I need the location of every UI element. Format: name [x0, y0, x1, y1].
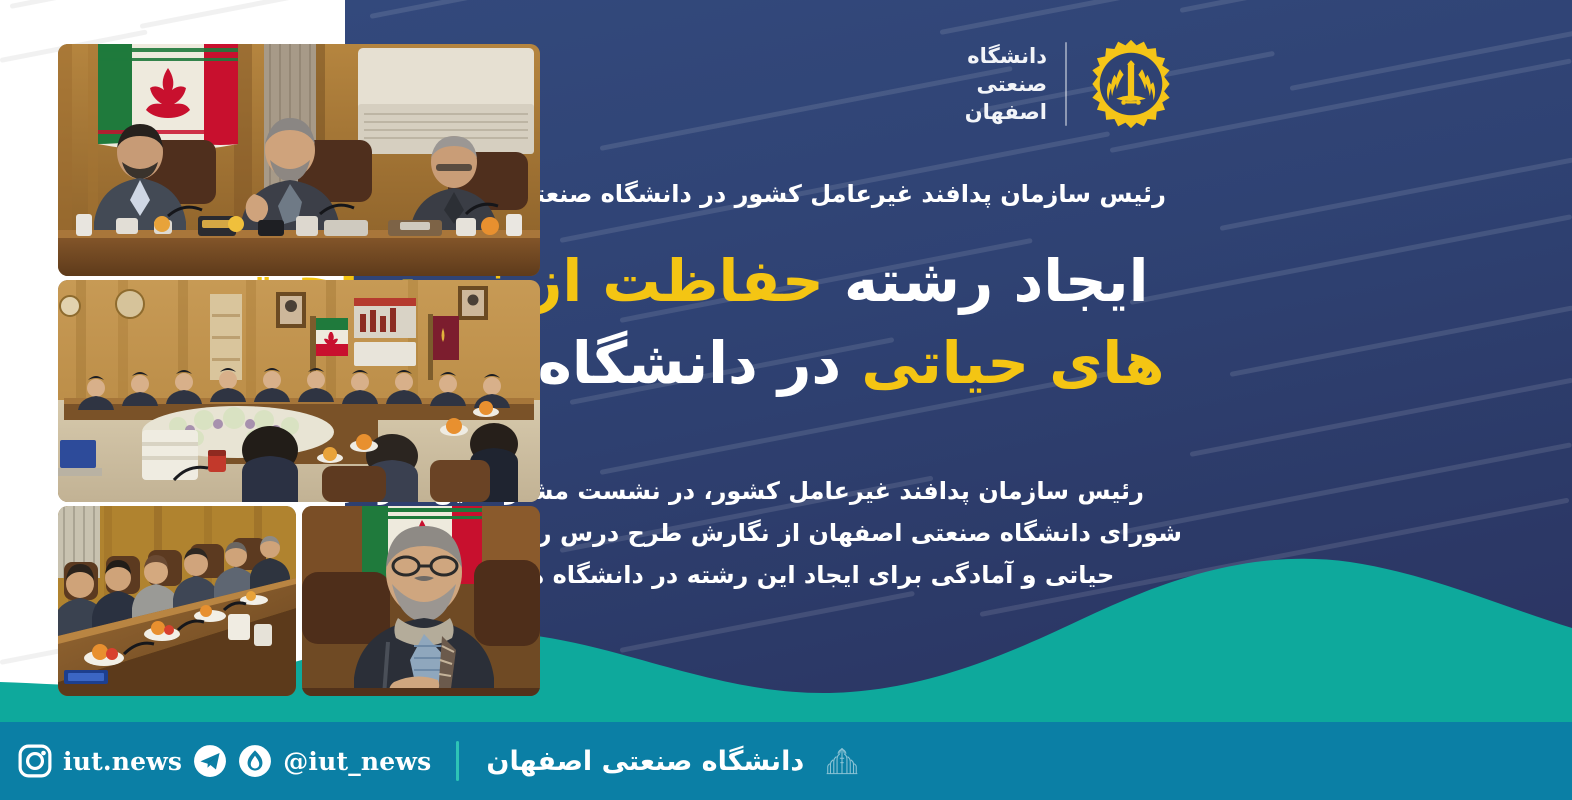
- photo-panel-speakers: [58, 44, 540, 276]
- bale-icon[interactable]: [238, 744, 272, 778]
- brand-line-1: دانشگاه: [965, 42, 1047, 70]
- brand-name: دانشگاه صنعتی اصفهان: [965, 42, 1047, 126]
- brand-lockup: دانشگاه صنعتی اصفهان: [965, 38, 1177, 130]
- footer-bar: iut.news @iut_news دانشگاه صنعتی اصفهان: [0, 722, 1572, 800]
- telegram-icon[interactable]: [193, 744, 227, 778]
- headline-part-2: [1029, 329, 1049, 397]
- iut-gear-logo-icon: [1085, 38, 1177, 130]
- footer-university-name: دانشگاه صنعتی اصفهان: [486, 746, 804, 777]
- headline-part-1: ایجاد رشته: [824, 247, 1149, 315]
- instagram-icon[interactable]: [18, 744, 52, 778]
- photo-official-portrait: [302, 506, 540, 696]
- photo-council-meeting: [58, 280, 540, 502]
- tower-icon: [825, 744, 859, 778]
- instagram-handle[interactable]: iut.news: [63, 747, 182, 776]
- news-poster: دانشگاه صنعتی اصفهان رئیس سازمان پدافند …: [0, 0, 1572, 800]
- footer-divider: [456, 741, 459, 781]
- photo-attendees-row: [58, 506, 296, 696]
- brand-divider: [1065, 42, 1067, 126]
- brand-line-2: صنعتی: [965, 70, 1047, 98]
- footer-social-group: iut.news @iut_news دانشگاه صنعتی اصفهان: [0, 741, 861, 781]
- brand-line-3: اصفهان: [965, 98, 1047, 126]
- messenger-handle[interactable]: @iut_news: [283, 747, 431, 776]
- headline-accent-2: حیاتی: [861, 329, 1029, 397]
